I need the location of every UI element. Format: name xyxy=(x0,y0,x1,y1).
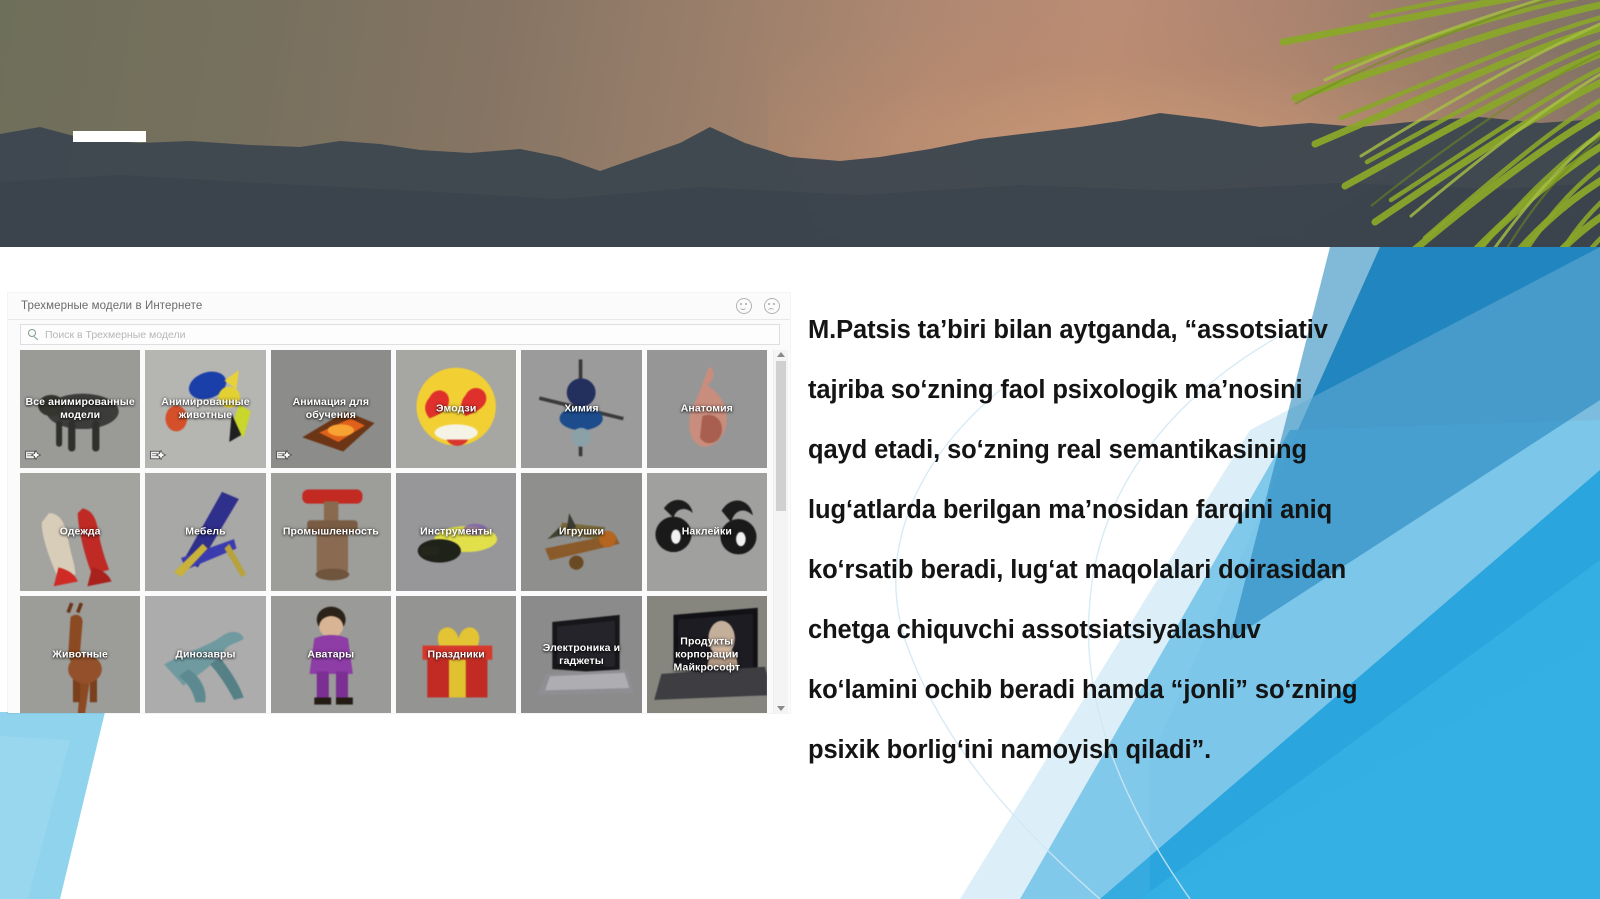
model-tile[interactable]: Анимированные животные xyxy=(145,350,265,468)
model-thumbnail xyxy=(521,596,641,713)
animated-model-badge-icon xyxy=(149,449,167,464)
animated-model-badge-icon xyxy=(24,449,42,464)
model-tile[interactable]: Химия xyxy=(521,350,641,468)
model-tile[interactable]: Все анимированные модели xyxy=(20,350,140,468)
model-thumbnail xyxy=(20,596,140,713)
model-tile[interactable]: Животные xyxy=(20,596,140,713)
model-thumbnail xyxy=(521,473,641,591)
model-tile[interactable]: Игрушки xyxy=(521,473,641,591)
body-text-line: M.Patsis ta’biri bilan aytganda, “assots… xyxy=(808,300,1488,360)
model-tile[interactable]: Мебель xyxy=(145,473,265,591)
model-tile[interactable]: Анимация для обучения xyxy=(271,350,391,468)
animated-model-badge-icon xyxy=(275,449,293,464)
body-text-line: lug‘atlarda berilgan ma’nosidan farqini … xyxy=(808,480,1488,540)
3d-models-panel[interactable]: Трехмерные модели в Интернете Поиск в Тр… xyxy=(8,293,790,713)
model-tile[interactable]: Праздники xyxy=(396,596,516,713)
body-text-line: ko‘rsatib beradi, lug‘at maqolalari doir… xyxy=(808,540,1488,600)
body-text-line: qayd etadi, so‘zning real semantikasinin… xyxy=(808,420,1488,480)
search-placeholder: Поиск в Трехмерные модели xyxy=(45,329,185,341)
search-row: Поиск в Трехмерные модели xyxy=(8,320,790,350)
scroll-thumb[interactable] xyxy=(776,361,786,511)
model-tile[interactable]: Промышленность xyxy=(271,473,391,591)
model-thumbnail xyxy=(20,473,140,591)
model-tile[interactable]: Эмодзи xyxy=(396,350,516,468)
banner-text-marker xyxy=(73,131,146,142)
model-thumbnail xyxy=(396,350,516,468)
scroll-track[interactable] xyxy=(774,357,788,706)
model-tile[interactable]: Аватары xyxy=(271,596,391,713)
body-text-line: psixik borlig‘ini namoyish qiladi”. xyxy=(808,720,1488,780)
model-thumbnail xyxy=(271,596,391,713)
model-thumbnail xyxy=(145,596,265,713)
model-thumbnail xyxy=(396,473,516,591)
banner-photo xyxy=(0,0,1600,247)
panel-header: Трехмерные модели в Интернете xyxy=(8,293,790,320)
body-text-line: ko‘lamini ochib beradi hamda “jonli” so‘… xyxy=(808,660,1488,720)
panel-body: Все анимированные моделиАнимированные жи… xyxy=(8,350,790,713)
body-text-line: tajriba so‘zning faol psixologik ma’nosi… xyxy=(808,360,1488,420)
body-text-block: M.Patsis ta’biri bilan aytganda, “assots… xyxy=(808,300,1488,780)
model-thumbnail xyxy=(647,596,767,713)
model-thumbnail xyxy=(145,473,265,591)
panel-header-icons xyxy=(736,298,780,314)
scroll-down-arrow[interactable] xyxy=(777,706,785,711)
model-tile[interactable]: Электроника и гаджеты xyxy=(521,596,641,713)
model-tile-grid[interactable]: Все анимированные моделиАнимированные жи… xyxy=(20,350,773,713)
model-thumbnail xyxy=(271,473,391,591)
panel-title: Трехмерные модели в Интернете xyxy=(21,300,736,312)
feedback-happy-icon[interactable] xyxy=(736,298,752,314)
slide-root: Трехмерные модели в Интернете Поиск в Тр… xyxy=(0,0,1600,899)
feedback-sad-icon[interactable] xyxy=(764,298,780,314)
model-thumbnail xyxy=(396,596,516,713)
panel-scrollbar[interactable] xyxy=(773,350,788,713)
model-tile[interactable]: Одежда xyxy=(20,473,140,591)
body-text-line: chetga chiquvchi assotsiatsiyalashuv xyxy=(808,600,1488,660)
model-tile[interactable]: Динозавры xyxy=(145,596,265,713)
search-icon xyxy=(28,329,39,340)
model-thumbnail xyxy=(647,350,767,468)
model-thumbnail xyxy=(521,350,641,468)
model-tile[interactable]: Наклейки xyxy=(647,473,767,591)
model-tile[interactable]: Инструменты xyxy=(396,473,516,591)
model-tile[interactable]: Анатомия xyxy=(647,350,767,468)
model-tile[interactable]: Продукты корпорации Майкрософт xyxy=(647,596,767,713)
model-thumbnail xyxy=(647,473,767,591)
mountain-silhouette xyxy=(0,87,1600,247)
search-input[interactable]: Поиск в Трехмерные модели xyxy=(20,324,780,345)
